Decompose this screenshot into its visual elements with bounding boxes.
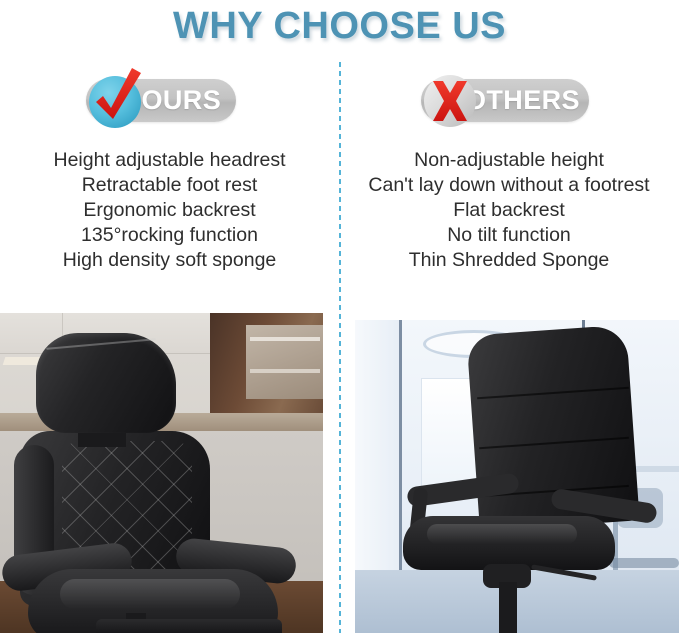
headrest-stitching xyxy=(46,338,156,350)
background-chair-base xyxy=(609,558,679,568)
background-window xyxy=(421,378,481,488)
wood-panel xyxy=(210,313,323,413)
armrest-post xyxy=(408,487,428,550)
backrest-rib xyxy=(481,485,629,497)
chair-seat-cushion xyxy=(28,569,278,633)
comparison-columns: OURS xyxy=(0,52,679,289)
chair-seat-cushion xyxy=(403,516,615,570)
seat-highlight xyxy=(427,524,577,544)
ceiling-lamp xyxy=(423,330,525,358)
background-desk-leg xyxy=(613,470,618,580)
shelf-line xyxy=(250,369,320,373)
wood-shelf-panel xyxy=(246,325,323,399)
backrest-rib xyxy=(477,387,629,400)
glass-partition-left xyxy=(355,320,399,633)
badge-label-others: OTHERS xyxy=(465,87,580,114)
cabinet-seam xyxy=(62,313,63,353)
seat-mechanism xyxy=(483,564,531,588)
chair-backrest xyxy=(20,431,210,606)
backrest-rib xyxy=(479,437,629,449)
cabinet-top xyxy=(0,313,323,354)
height-adjust-lever xyxy=(531,564,597,580)
gas-cylinder xyxy=(126,613,146,633)
feature-item: No tilt function xyxy=(339,223,679,248)
feature-item: Ergonomic backrest xyxy=(0,198,339,223)
retractable-footrest xyxy=(96,619,282,633)
x-icon xyxy=(421,72,479,130)
check-icon xyxy=(86,72,144,130)
headrest-post xyxy=(78,417,126,447)
seat-highlight xyxy=(60,579,240,609)
background-desk xyxy=(593,466,679,472)
feature-item: Can't lay down without a footrest xyxy=(339,173,679,198)
column-others: OTHERS xyxy=(339,52,679,289)
page-title: WHY CHOOSE US xyxy=(173,7,506,45)
feature-list-ours: Height adjustable headrest Retractable f… xyxy=(0,148,339,273)
counter-edge xyxy=(0,413,323,431)
office-background-right xyxy=(585,320,679,633)
office-floor xyxy=(355,570,679,633)
cabinet-base xyxy=(0,431,323,593)
feature-item: Flat backrest xyxy=(339,198,679,223)
others-chair-photo xyxy=(355,320,679,633)
gas-cylinder xyxy=(499,582,517,633)
office-wall-panel xyxy=(402,320,582,633)
feature-item: High density soft sponge xyxy=(0,248,339,273)
chair-armrest-right xyxy=(174,537,297,585)
paper-sheet xyxy=(3,357,46,365)
ours-chair-photo xyxy=(0,313,323,633)
shelf-line xyxy=(250,337,320,341)
chair-armrest-right xyxy=(550,488,658,524)
feature-item: Height adjustable headrest xyxy=(0,148,339,173)
chair-armrest-left xyxy=(0,541,133,593)
chair-headrest xyxy=(36,333,176,433)
badge-ours: OURS xyxy=(86,66,236,134)
background-chair xyxy=(617,488,663,528)
feature-item: Non-adjustable height xyxy=(339,148,679,173)
feature-item: Retractable foot rest xyxy=(0,173,339,198)
badge-label-ours: OURS xyxy=(142,87,222,114)
feature-item: Thin Shredded Sponge xyxy=(339,248,679,273)
side-bolster xyxy=(14,445,54,595)
window-mullion xyxy=(399,320,402,633)
window-mullion xyxy=(582,320,585,633)
title-bar: WHY CHOOSE US xyxy=(0,0,679,52)
column-ours: OURS xyxy=(0,52,339,289)
feature-item: 135°rocking function xyxy=(0,223,339,248)
wood-floor xyxy=(0,581,323,633)
diamond-quilting xyxy=(62,441,192,591)
feature-list-others: Non-adjustable height Can't lay down wit… xyxy=(339,148,679,273)
chair-flat-backrest xyxy=(466,325,639,532)
chair-armrest-left xyxy=(406,472,520,507)
badge-others: OTHERS xyxy=(421,66,589,134)
